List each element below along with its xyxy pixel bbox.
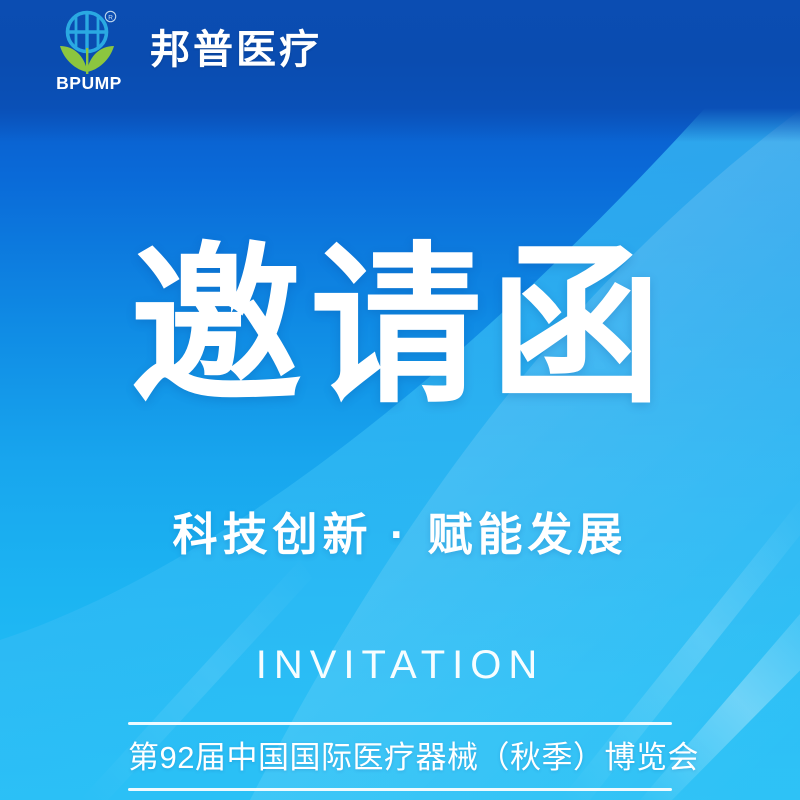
slogan-text: 科技创新 · 赋能发展: [0, 508, 800, 562]
bpump-wordmark: BPUMP: [56, 73, 122, 92]
footer-block: 第92届中国国际医疗器械（秋季）博览会: [128, 722, 672, 791]
page-title: 邀请函: [0, 236, 800, 418]
company-name: 邦普医疗: [150, 30, 322, 70]
svg-text:R: R: [108, 14, 113, 21]
invitation-poster: R BPUMP 邦普医疗 邀请函 科技创新 · 赋能发展 INVITATION …: [0, 0, 800, 800]
english-subtitle: INVITATION: [0, 645, 800, 685]
event-title: 第92届中国国际医疗器械（秋季）博览会: [128, 725, 672, 788]
brand-logo-row: R BPUMP 邦普医疗: [46, 8, 322, 92]
bpump-logo-icon: R BPUMP: [46, 8, 132, 92]
footer-rule-bottom: [128, 788, 672, 791]
